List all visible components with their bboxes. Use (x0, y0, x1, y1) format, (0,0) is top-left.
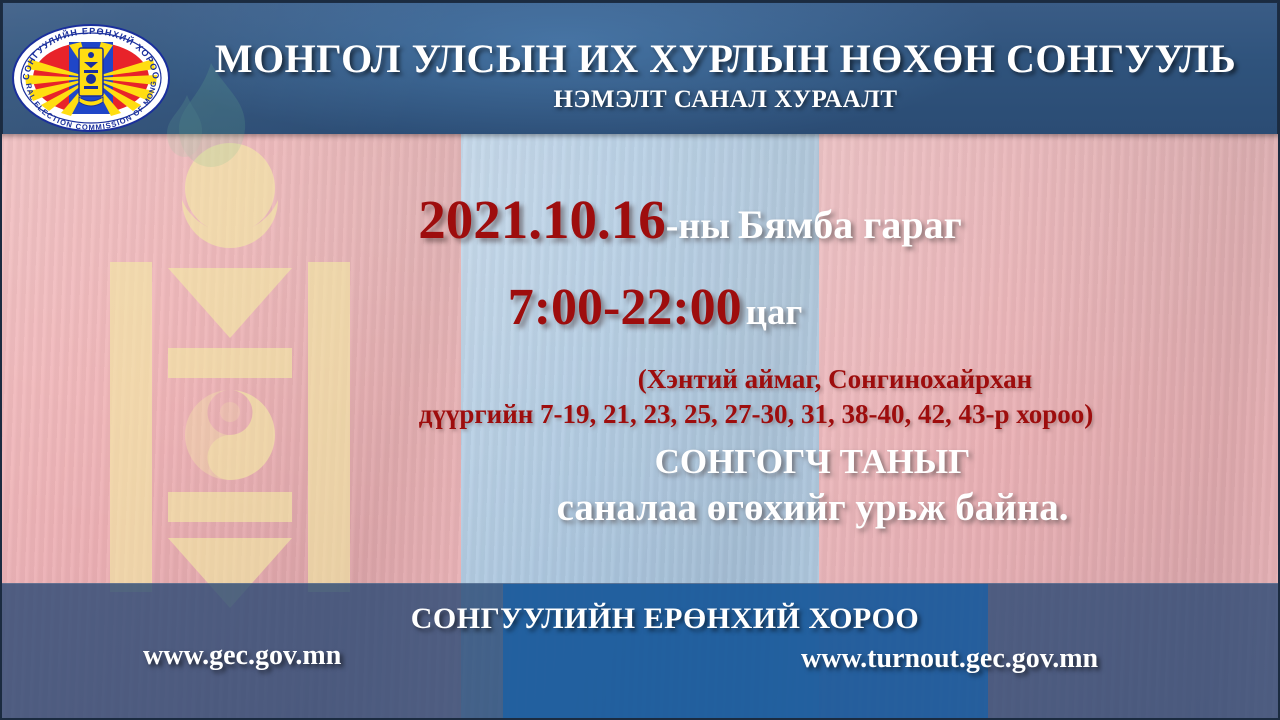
footer-organization-name: СОНГУУЛИЙН ЕРӨНХИЙ ХОРОО (0, 602, 1280, 636)
poster-main-title: МОНГОЛ УЛСЫН ИХ ХУРЛЫН НӨХӨН СОНГУУЛЬ (178, 39, 1273, 79)
footer-link-turnout[interactable]: www.turnout.gec.gov.mn (801, 643, 1098, 675)
voting-hours-unit: цаг (746, 292, 803, 333)
header-bar: СОНГУУЛИЙН ЕРӨНХИЙ ХОРОО GENERAL ELECTIO… (0, 0, 1280, 134)
voter-invitation-text: СОНГОГЧ ТАНЫГ саналаа өгөхийг урьж байна… (0, 440, 1280, 533)
constituency-scope-line1: (Хэнтий аймаг, Сонгинохайрхан (390, 362, 1280, 397)
voting-hours-value: 7:00-22:00 (508, 279, 742, 336)
constituency-scope-text: (Хэнтий аймаг, Сонгинохайрхан дүүргийн 7… (0, 362, 1280, 431)
gec-emblem-logo: СОНГУУЛИЙН ЕРӨНХИЙ ХОРОО GENERAL ELECTIO… (11, 23, 171, 133)
constituency-scope-line2: дүүргийн 7-19, 21, 23, 25, 27-30, 31, 38… (232, 397, 1280, 432)
poster-sub-title: НЭМЭЛТ САНАЛ ХУРААЛТ (178, 86, 1273, 114)
election-date-suffix: -ны (666, 205, 730, 247)
election-date-value: 2021.10.16 (418, 189, 666, 250)
election-announcement-poster: СОНГУУЛИЙН ЕРӨНХИЙ ХОРОО GENERAL ELECTIO… (0, 0, 1280, 720)
election-date-weekday: Бямба гараг (738, 202, 962, 247)
header-text-block: МОНГОЛ УЛСЫН ИХ ХУРЛЫН НӨХӨН СОНГУУЛЬ НЭ… (178, 39, 1273, 114)
footer-link-gec[interactable]: www.gec.gov.mn (143, 640, 341, 672)
election-date-line: 2021.10.16-ны Бямба гараг (0, 188, 1280, 251)
voter-invitation-line1: СОНГОГЧ ТАНЫГ (345, 440, 1280, 484)
voter-invitation-line2: саналаа өгөхийг урьж байна. (345, 484, 1280, 533)
voting-hours-line: 7:00-22:00 цаг (0, 278, 1280, 337)
